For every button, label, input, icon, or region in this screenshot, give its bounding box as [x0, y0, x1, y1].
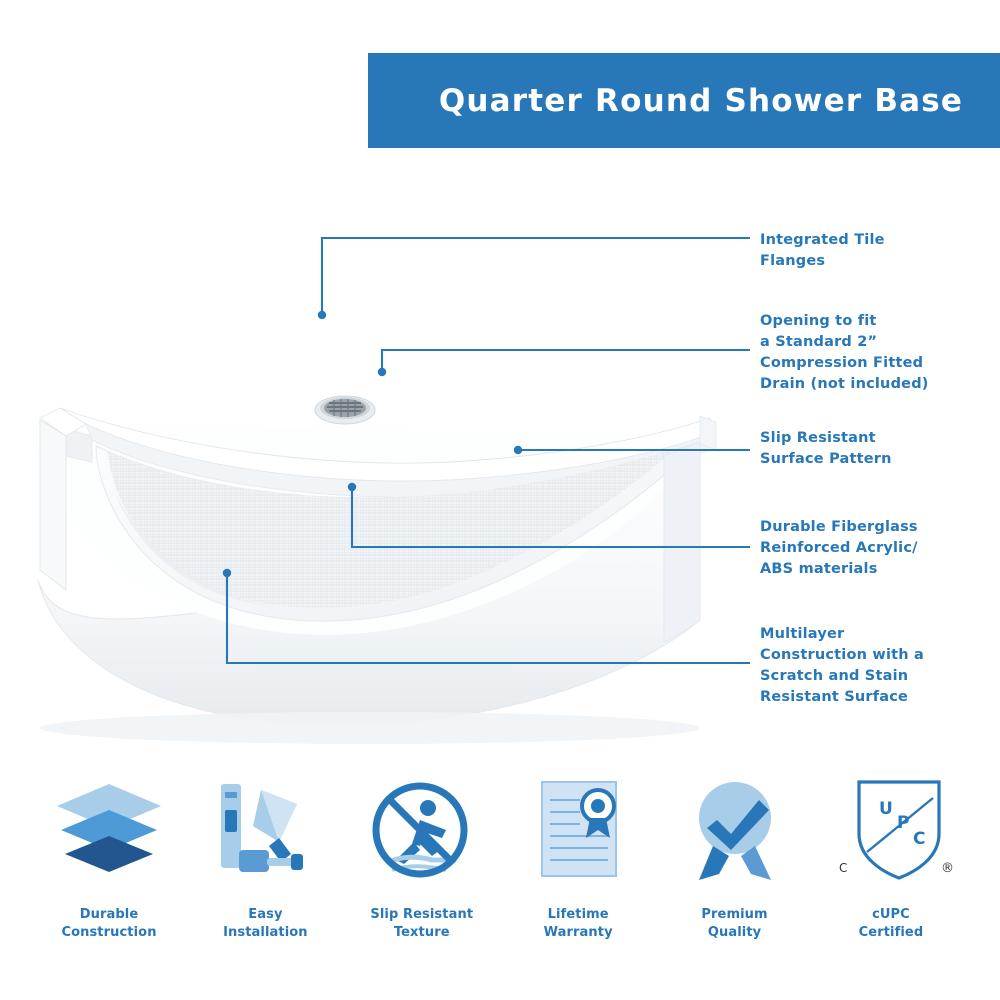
callout-integrated-tile-flanges: Integrated Tile Flanges — [760, 230, 985, 272]
feature-label: Premium Quality — [701, 906, 767, 942]
label-line: Easy — [223, 906, 308, 924]
feature-durable-construction: Durable Construction — [34, 772, 184, 942]
no-slip-icon — [362, 772, 482, 890]
check-ribbon-icon — [675, 772, 795, 890]
callout-slip-resistant-surface-pattern: Slip Resistant Surface Pattern — [760, 428, 985, 470]
stacked-layers-icon — [49, 772, 169, 890]
label-line: Premium — [701, 906, 767, 924]
callout-line: Surface Pattern — [760, 449, 985, 470]
label-line: Quality — [701, 924, 767, 942]
label-line: Construction — [61, 924, 156, 942]
feature-easy-installation: Easy Installation — [190, 772, 340, 942]
feature-premium-quality: Premium Quality — [660, 772, 810, 942]
svg-text:C: C — [913, 829, 925, 849]
callout-drain-opening: Opening to fit a Standard 2” Compression… — [760, 311, 990, 395]
label-line: Slip Resistant — [370, 906, 473, 924]
drain-grate — [315, 396, 375, 424]
feature-cupc-certified: U P C C ® cUPC Certified — [816, 772, 966, 942]
feature-label: Easy Installation — [223, 906, 308, 942]
callout-line: ABS materials — [760, 559, 992, 580]
feature-label: Slip Resistant Texture — [370, 906, 473, 942]
feature-label: Lifetime Warranty — [544, 906, 613, 942]
callout-line: Durable Fiberglass — [760, 517, 992, 538]
callout-line: Resistant Surface — [760, 687, 988, 708]
label-line: Installation — [223, 924, 308, 942]
feature-row: Durable Construction — [0, 772, 1000, 1000]
feature-label: Durable Construction — [61, 906, 156, 942]
label-line: cUPC — [859, 906, 924, 924]
callout-multilayer-construction: Multilayer Construction with a Scratch a… — [760, 624, 988, 708]
callout-line: Construction with a — [760, 645, 988, 666]
feature-label: cUPC Certified — [859, 906, 924, 942]
svg-text:P: P — [897, 813, 909, 833]
page-title: Quarter Round Shower Base — [368, 53, 1000, 148]
label-line: Certified — [859, 924, 924, 942]
feature-slip-resistant-texture: Slip Resistant Texture — [347, 772, 497, 942]
infographic-page: Quarter Round Shower Base — [0, 0, 1000, 1000]
label-line: Durable — [61, 906, 156, 924]
callout-line: Scratch and Stain — [760, 666, 988, 687]
callout-line: Multilayer — [760, 624, 988, 645]
svg-text:C: C — [839, 861, 847, 875]
callout-line: a Standard 2” — [760, 332, 990, 353]
svg-text:U: U — [879, 799, 893, 819]
callout-line: Integrated Tile — [760, 230, 985, 251]
upc-shield-icon: U P C C ® — [821, 772, 961, 890]
callout-line: Drain (not included) — [760, 374, 990, 395]
callout-line: Flanges — [760, 251, 985, 272]
svg-text:®: ® — [941, 861, 954, 876]
callout-line: Slip Resistant — [760, 428, 985, 449]
callout-line: Reinforced Acrylic/ — [760, 538, 992, 559]
callout-line: Compression Fitted — [760, 353, 990, 374]
label-line: Lifetime — [544, 906, 613, 924]
level-and-trowel-icon — [205, 772, 325, 890]
label-line: Warranty — [544, 924, 613, 942]
product-illustration — [0, 150, 740, 770]
feature-lifetime-warranty: Lifetime Warranty — [503, 772, 653, 942]
callout-line: Opening to fit — [760, 311, 990, 332]
label-line: Texture — [370, 924, 473, 942]
warranty-certificate-icon — [518, 772, 638, 890]
callout-durable-materials: Durable Fiberglass Reinforced Acrylic/ A… — [760, 517, 992, 580]
